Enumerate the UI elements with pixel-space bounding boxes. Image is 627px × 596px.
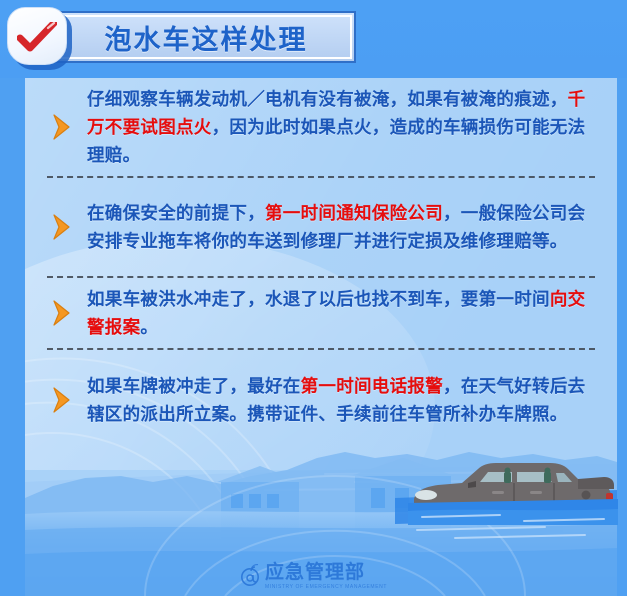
chevron-right-icon bbox=[45, 296, 79, 330]
tip-text: 如果车被洪水冲走了，水退了以后也找不到车，要第一时间向交警报案。 bbox=[87, 285, 597, 341]
tip-seg-normal: 如果车牌被冲走了，最好在 bbox=[87, 376, 301, 396]
chevron-right-icon bbox=[45, 210, 79, 244]
tip-text: 仔细观察车辆发动机／电机有没有被淹，如果有被淹的痕迹，千万不要试图点火，因为此时… bbox=[87, 85, 597, 169]
poster-root: 泡水车这样处理 仔细观察车辆发动机／电机有没有被淹，如果有被淹的痕迹，千万不要试… bbox=[0, 0, 627, 596]
tip-item: 如果车被洪水冲走了，水退了以后也找不到车，要第一时间向交警报案。 bbox=[25, 278, 617, 348]
tip-seg-highlight: 第一时间通知保险公司 bbox=[265, 203, 443, 223]
tip-item: 仔细观察车辆发动机／电机有没有被淹，如果有被淹的痕迹，千万不要试图点火，因为此时… bbox=[25, 78, 617, 176]
tip-item: 在确保安全的前提下，第一时间通知保险公司，一般保险公司会安排专业拖车将你的车送到… bbox=[25, 178, 617, 276]
chevron-right-icon bbox=[45, 383, 79, 417]
tip-text: 如果车牌被冲走了，最好在第一时间电话报警，在天气好转后去辖区的派出所立案。携带证… bbox=[87, 372, 597, 428]
chevron-right-icon bbox=[45, 110, 79, 144]
tip-seg-normal: 仔细观察车辆发动机／电机有没有被淹，如果有被淹的痕迹， bbox=[87, 89, 568, 109]
tip-seg-normal: 。 bbox=[140, 317, 158, 337]
tip-seg-highlight: 第一时间电话报警 bbox=[301, 376, 443, 396]
title-banner-inner: 泡水车这样处理 bbox=[60, 15, 352, 59]
tip-text: 在确保安全的前提下，第一时间通知保险公司，一般保险公司会安排专业拖车将你的车送到… bbox=[87, 199, 597, 255]
tips-list: 仔细观察车辆发动机／电机有没有被淹，如果有被淹的痕迹，千万不要试图点火，因为此时… bbox=[25, 78, 617, 450]
title-banner: 泡水车这样处理 bbox=[56, 11, 356, 63]
page-title: 泡水车这样处理 bbox=[105, 18, 308, 57]
tip-seg-normal: 在确保安全的前提下， bbox=[87, 203, 265, 223]
tip-seg-normal: 如果车被洪水冲走了，水退了以后也找不到车，要第一时间 bbox=[87, 289, 550, 309]
check-mark-icon bbox=[17, 22, 57, 52]
check-badge bbox=[6, 6, 72, 70]
tip-item: 如果车牌被冲走了，最好在第一时间电话报警，在天气好转后去辖区的派出所立案。携带证… bbox=[25, 350, 617, 450]
